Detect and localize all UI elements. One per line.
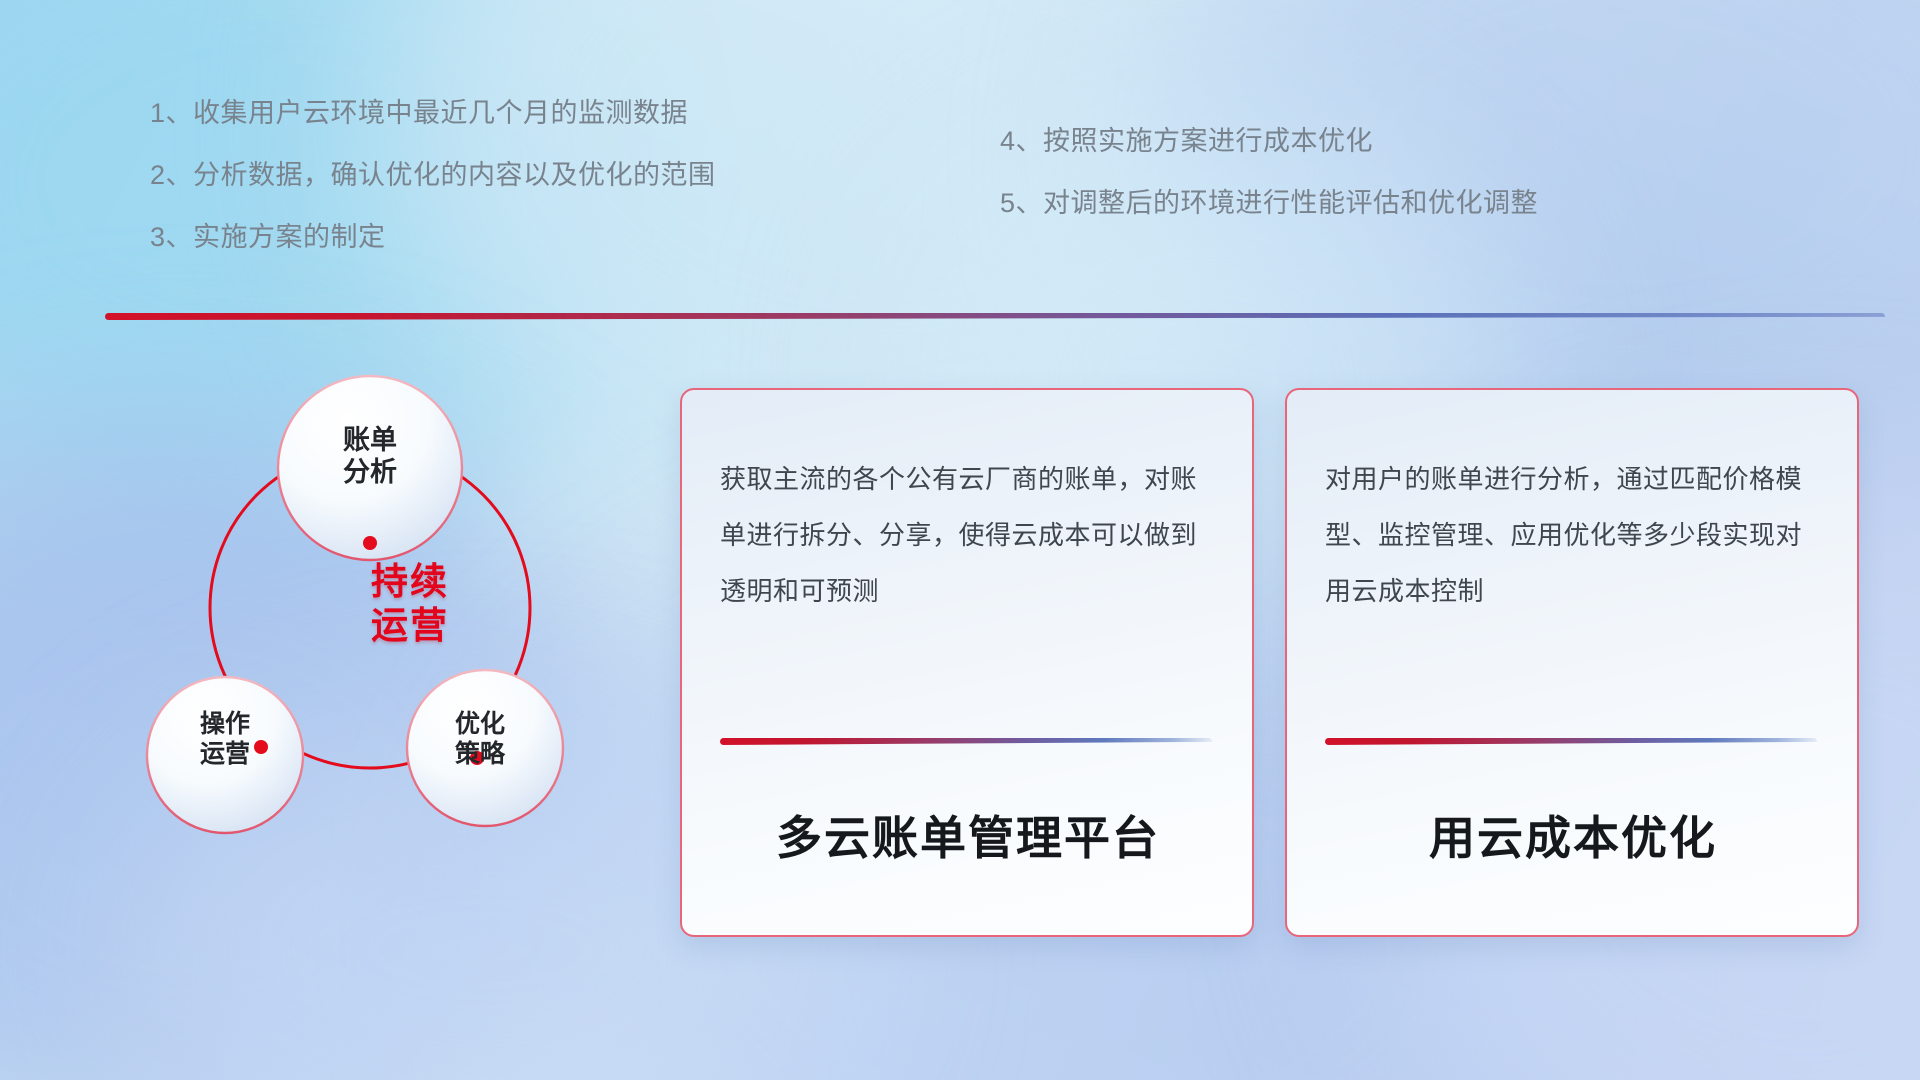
node-label-optimization-strategy: 优化 策略 <box>405 710 555 769</box>
continuous-operation-diagram: 账单 分析 操作 运营 优化 策略 持续 运营 <box>95 340 655 940</box>
node-label-line: 账单 <box>295 425 445 457</box>
bullet-item: 1、收集用户云环境中最近几个月的监测数据 <box>150 100 716 127</box>
node-label-line: 分析 <box>295 457 445 489</box>
card-body-text: 对用户的账单进行分析，通过匹配价格模型、监控管理、应用优化等多少段实现对用云成本… <box>1325 452 1819 620</box>
bullet-item: 4、按照实施方案进行成本优化 <box>1000 128 1538 155</box>
card-body-text: 获取主流的各个公有云厂商的账单，对账单进行拆分、分享，使得云成本可以做到透明和可… <box>720 452 1214 620</box>
node-label-line: 运营 <box>150 740 300 770</box>
center-label-line: 运营 <box>325 604 495 648</box>
connector-dot-top <box>363 536 377 550</box>
node-label-bill-analysis: 账单 分析 <box>295 425 445 489</box>
bullet-item: 5、对调整后的环境进行性能评估和优化调整 <box>1000 190 1538 217</box>
node-label-line: 操作 <box>150 710 300 740</box>
bullet-list-right: 4、按照实施方案进行成本优化 5、对调整后的环境进行性能评估和优化调整 <box>1000 128 1538 252</box>
center-label-line: 持续 <box>325 560 495 604</box>
card-divider <box>720 738 1212 745</box>
bullet-list-left: 1、收集用户云环境中最近几个月的监测数据 2、分析数据，确认优化的内容以及优化的… <box>150 100 716 286</box>
card-title: 多云账单管理平台 <box>718 802 1218 868</box>
card-title: 用云成本优化 <box>1323 802 1823 868</box>
bullet-item: 3、实施方案的制定 <box>150 224 716 251</box>
node-label-operations: 操作 运营 <box>150 710 300 769</box>
card-multi-cloud-bill-platform[interactable]: 获取主流的各个公有云厂商的账单，对账单进行拆分、分享，使得云成本可以做到透明和可… <box>680 388 1254 937</box>
card-divider <box>1325 738 1817 745</box>
slide-canvas: 1、收集用户云环境中最近几个月的监测数据 2、分析数据，确认优化的内容以及优化的… <box>0 0 1920 1080</box>
node-label-line: 优化 <box>405 710 555 740</box>
node-label-line: 策略 <box>405 740 555 770</box>
diagram-center-label: 持续 运营 <box>325 560 495 649</box>
bullet-item: 2、分析数据，确认优化的内容以及优化的范围 <box>150 162 716 189</box>
card-cloud-cost-optimization[interactable]: 对用户的账单进行分析，通过匹配价格模型、监控管理、应用优化等多少段实现对用云成本… <box>1285 388 1859 937</box>
